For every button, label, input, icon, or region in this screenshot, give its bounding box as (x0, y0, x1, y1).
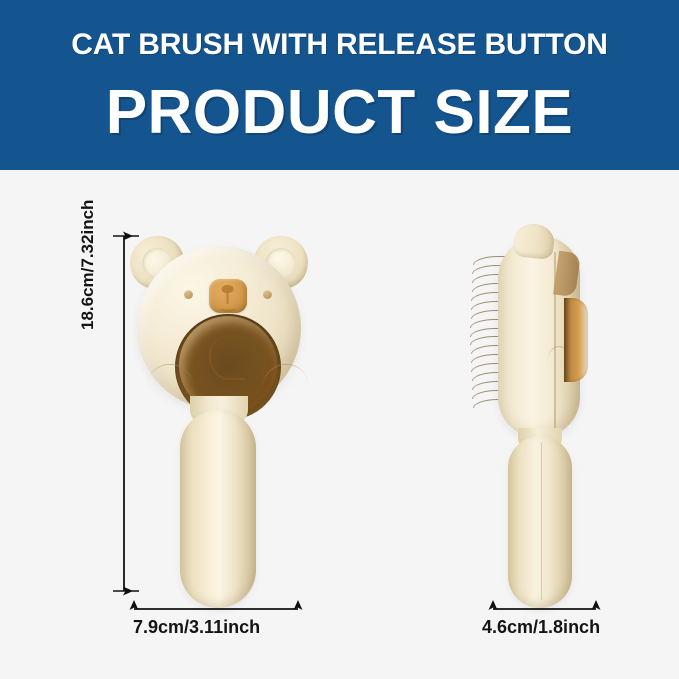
bear-nose-badge-icon (209, 279, 247, 313)
side-handle-seam (541, 442, 542, 600)
cat-brush-front-view (128, 228, 310, 608)
bear-mouth-glyph (220, 303, 236, 312)
banner-subheadline: PRODUCT SIZE (0, 78, 679, 148)
bear-head (137, 246, 301, 410)
product-size-infographic: CAT BRUSH WITH RELEASE BUTTON PRODUCT SI… (0, 0, 679, 679)
banner: CAT BRUSH WITH RELEASE BUTTON PRODUCT SI… (0, 0, 679, 170)
front-width-dimension-label: 7.9cm/3.11inch (133, 617, 260, 638)
cat-brush-side-view (470, 236, 620, 608)
front-handle (180, 410, 256, 608)
side-handle (508, 436, 572, 608)
height-dimension-label: 18.6cm/7.32inch (78, 200, 98, 330)
release-button-swirl (209, 338, 245, 380)
banner-headline: CAT BRUSH WITH RELEASE BUTTON (0, 28, 679, 62)
bear-eye-left-icon (184, 290, 193, 299)
side-width-dimension-label: 4.6cm/1.8inch (482, 617, 600, 638)
release-button-edge[interactable] (564, 298, 588, 382)
bear-eye-right-icon (263, 290, 272, 299)
